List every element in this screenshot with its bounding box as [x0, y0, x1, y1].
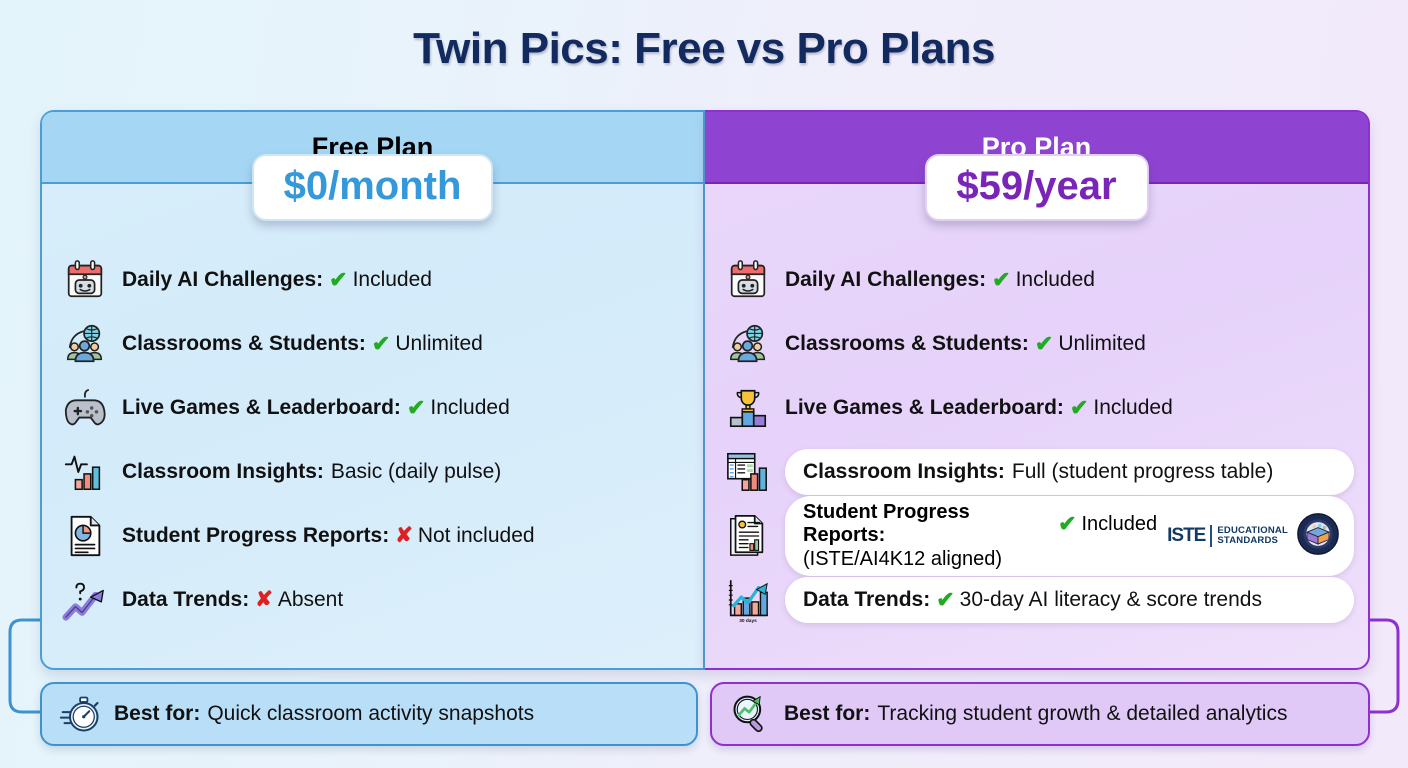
standards-badges: ISTE EDUCATIONAL STANDARDS [1157, 512, 1340, 561]
feature-label: Data Trends: [122, 588, 249, 613]
footer-value: Tracking student growth & detailed analy… [870, 702, 1287, 727]
feature-row: Data Trends: ✘ Absent [60, 568, 689, 632]
feature-text: Student Progress Reports: ✔ Included [803, 501, 1157, 547]
free-feature-list: Daily AI Challenges: ✔ Included [42, 242, 703, 668]
feature-label: Classroom Insights: [803, 460, 1005, 485]
cross-icon: ✘ [249, 588, 278, 613]
check-icon: ✔ [401, 395, 430, 421]
feature-text: Classroom Insights: Full (student progre… [803, 460, 1273, 485]
feature-label: Student Progress Reports: [803, 501, 1052, 547]
feature-text: Classroom Insights: Basic (daily pulse) [122, 460, 501, 485]
cross-icon: ✘ [389, 524, 418, 549]
feature-text: Student Progress Reports: ✘ Not included [122, 524, 535, 549]
feature-text: Classrooms & Students: ✔ Unlimited [122, 331, 483, 357]
check-icon: ✔ [366, 331, 395, 357]
feature-text: Daily AI Challenges: ✔ Included [785, 267, 1095, 293]
check-icon: ✔ [323, 267, 352, 293]
question-trend-arrow-icon [60, 575, 110, 625]
pro-price-wrap: $59/year [705, 184, 1368, 242]
svg-text:30 days: 30 days [739, 618, 757, 623]
people-globe-icon [60, 319, 110, 369]
report-doc-chart-icon [723, 511, 773, 561]
pulse-bars-icon [60, 447, 110, 497]
dashboard-table-chart-icon [723, 447, 773, 497]
feature-row: Classroom Insights: Full (student progre… [723, 440, 1354, 504]
feature-value: 30-day AI literacy & score trends [960, 588, 1262, 613]
iste-subtitle: EDUCATIONAL STANDARDS [1217, 526, 1288, 547]
feature-label: Student Progress Reports: [122, 524, 389, 549]
feature-value: Included [1082, 513, 1158, 536]
feature-row: Live Games & Leaderboard: ✔ Included [723, 376, 1354, 440]
calendar-robot-icon [60, 255, 110, 305]
trend-chart-30days-icon: 30 days [723, 575, 773, 625]
feature-value: Full (student progress table) [1005, 460, 1273, 485]
free-price-wrap: $0/month [42, 184, 703, 242]
feature-row: Daily AI Challenges: ✔ Included [60, 248, 689, 312]
iste-subtitle-line2: STANDARDS [1217, 535, 1278, 546]
feature-text: Data Trends: ✘ Absent [122, 588, 343, 613]
iste-wordmark: ISTE [1167, 525, 1205, 547]
stopwatch-icon [58, 691, 104, 737]
footer-text: Best for: Tracking student growth & deta… [784, 702, 1287, 727]
feature-highlight-pill: Classroom Insights: Full (student progre… [785, 449, 1354, 495]
feature-text-stack: Student Progress Reports: ✔ Included (IS… [803, 501, 1157, 571]
feature-label: Classrooms & Students: [785, 332, 1029, 357]
page-title: Twin Pics: Free vs Pro Plans [0, 24, 1408, 74]
check-icon: ✔ [1064, 395, 1093, 421]
feature-value: Included [430, 396, 509, 421]
pro-best-for-bar: Best for: Tracking student growth & deta… [710, 682, 1370, 746]
feature-text: Live Games & Leaderboard: ✔ Included [785, 395, 1173, 421]
iste-divider [1210, 525, 1212, 547]
check-icon: ✔ [1052, 511, 1081, 537]
feature-highlight-pill: Data Trends: ✔ 30-day AI literacy & scor… [785, 577, 1354, 623]
feature-value: Unlimited [395, 332, 483, 357]
feature-label: Data Trends: [803, 588, 930, 613]
feature-row: Student Progress Reports: ✔ Included (IS… [723, 504, 1354, 568]
calendar-robot-icon [723, 255, 773, 305]
feature-row: Daily AI Challenges: ✔ Included [723, 248, 1354, 312]
free-plan-panel: Free Plan $0/month [40, 110, 705, 670]
feature-text: Data Trends: ✔ 30-day AI literacy & scor… [803, 587, 1262, 613]
magnifier-trend-icon [728, 691, 774, 737]
footer-label: Best for: [784, 702, 870, 727]
feature-text: Live Games & Leaderboard: ✔ Included [122, 395, 510, 421]
pro-price-badge: $59/year [924, 154, 1148, 221]
feature-value: Included [353, 268, 432, 293]
feature-row: Live Games & Leaderboard: ✔ Included [60, 376, 689, 440]
iste-logo: ISTE EDUCATIONAL STANDARDS [1167, 525, 1288, 547]
check-icon: ✔ [1029, 331, 1058, 357]
footer-value: Quick classroom activity snapshots [200, 702, 534, 727]
feature-label: Classrooms & Students: [122, 332, 366, 357]
plan-comparison: Free Plan $0/month [40, 110, 1370, 670]
feature-label: Live Games & Leaderboard: [122, 396, 401, 421]
feature-value: Absent [278, 588, 343, 613]
educational-standards-seal-icon [1296, 512, 1340, 561]
footer-label: Best for: [114, 702, 200, 727]
feature-label: Daily AI Challenges: [785, 268, 986, 293]
feature-label: Daily AI Challenges: [122, 268, 323, 293]
people-globe-icon [723, 319, 773, 369]
feature-value: Basic (daily pulse) [324, 460, 501, 485]
feature-label: Classroom Insights: [122, 460, 324, 485]
feature-value: Not included [418, 524, 535, 549]
feature-row: 30 days Data Trends: ✔ 30-day AI literac… [723, 568, 1354, 632]
free-price-badge: $0/month [252, 154, 494, 221]
feature-value: Included [1093, 396, 1172, 421]
feature-row: Classroom Insights: Basic (daily pulse) [60, 440, 689, 504]
feature-label: Live Games & Leaderboard: [785, 396, 1064, 421]
feature-highlight-pill: Student Progress Reports: ✔ Included (IS… [785, 496, 1354, 576]
pro-plan-panel: Pro Plan $59/year [705, 110, 1370, 670]
report-pie-doc-icon [60, 511, 110, 561]
feature-value: Included [1016, 268, 1095, 293]
free-best-for-bar: Best for: Quick classroom activity snaps… [40, 682, 698, 746]
feature-row: Classrooms & Students: ✔ Unlimited [60, 312, 689, 376]
feature-text: Daily AI Challenges: ✔ Included [122, 267, 432, 293]
check-icon: ✔ [930, 587, 959, 613]
feature-text: Classrooms & Students: ✔ Unlimited [785, 331, 1146, 357]
feature-row: Student Progress Reports: ✘ Not included [60, 504, 689, 568]
pro-feature-list: Daily AI Challenges: ✔ Included [705, 242, 1368, 668]
check-icon: ✔ [986, 267, 1015, 293]
gamepad-icon [60, 383, 110, 433]
trophy-podium-icon [723, 383, 773, 433]
footer-text: Best for: Quick classroom activity snaps… [114, 702, 534, 727]
feature-row: Classrooms & Students: ✔ Unlimited [723, 312, 1354, 376]
feature-value: Unlimited [1058, 332, 1146, 357]
